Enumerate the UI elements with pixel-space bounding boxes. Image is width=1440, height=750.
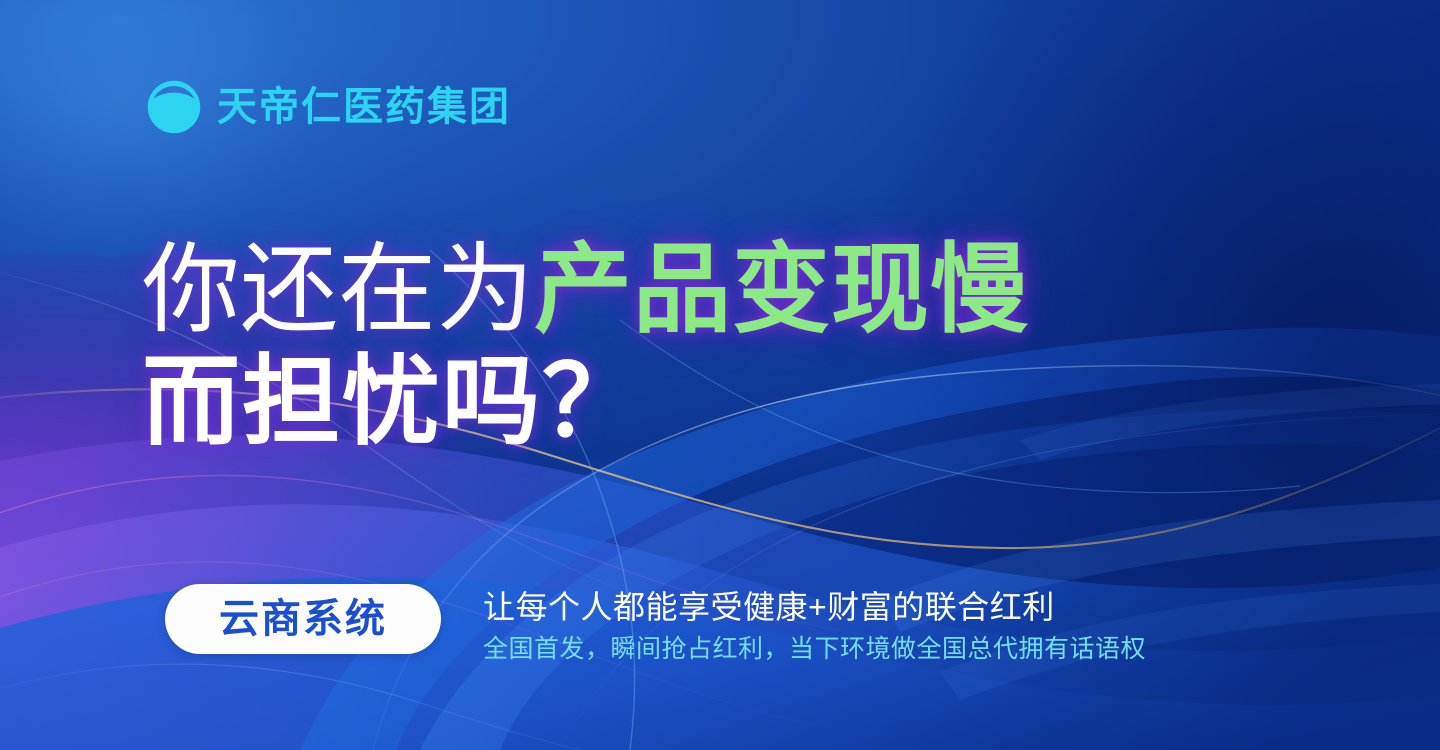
tagline-secondary: 全国首发，瞬间抢占红利，当下环境做全国总代拥有话语权	[483, 633, 1146, 667]
headline-line-1: 你还在为产品变现慢	[142, 240, 1202, 340]
tagline-primary: 让每个人都能享受健康+财富的联合红利	[483, 587, 1146, 627]
brand-name: 天帝仁医药集团	[217, 87, 511, 127]
headline-line-2-text: 而担忧吗？	[142, 346, 642, 456]
headline-plain-text: 你还在为	[142, 234, 534, 344]
product-badge[interactable]: 云商系统	[165, 584, 441, 654]
globe-circle-icon	[145, 78, 203, 136]
headline-highlight-text: 产品变现慢	[534, 234, 1029, 344]
product-badge-label: 云商系统	[219, 599, 387, 639]
promo-banner: 天帝仁医药集团 你还在为产品变现慢 而担忧吗？ 云商系统 让每个人都能享受健康+…	[0, 0, 1440, 750]
brand-logo[interactable]: 天帝仁医药集团	[145, 78, 511, 136]
headline: 你还在为产品变现慢 而担忧吗？	[142, 240, 1202, 452]
footer-row: 云商系统 让每个人都能享受健康+财富的联合红利 全国首发，瞬间抢占红利，当下环境…	[165, 584, 1146, 667]
tagline-group: 让每个人都能享受健康+财富的联合红利 全国首发，瞬间抢占红利，当下环境做全国总代…	[483, 584, 1146, 667]
headline-line-2: 而担忧吗？	[142, 352, 1202, 452]
